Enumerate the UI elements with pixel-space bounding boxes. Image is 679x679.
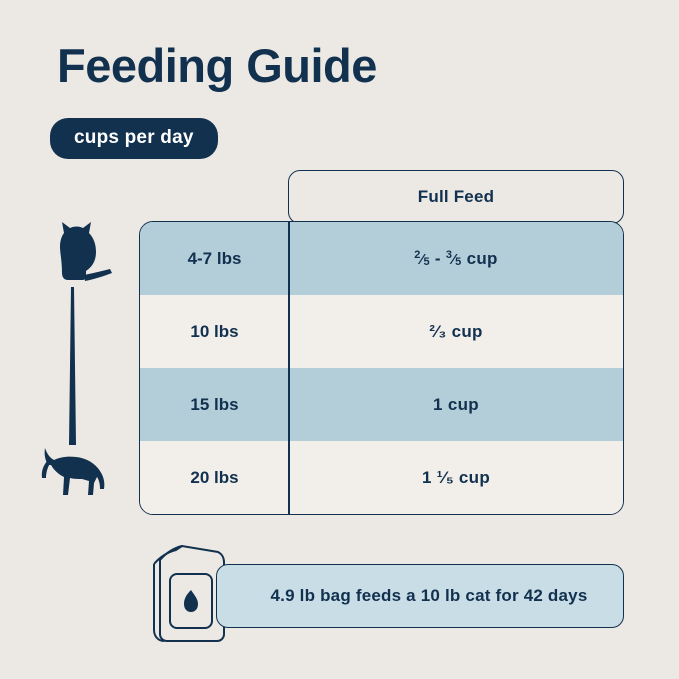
bag-feeding-note-text: 4.9 lb bag feeds a 10 lb cat for 42 days <box>253 586 588 606</box>
cell-weight: 20 lbs <box>140 441 289 514</box>
cell-amount: 2⁄5 - 3⁄5 cup <box>289 222 623 295</box>
cat-walking-icon <box>42 448 105 495</box>
cell-weight: 15 lbs <box>140 368 289 441</box>
feeding-guide-graphic: Feeding Guide cups per day Full Feed <box>0 0 679 679</box>
cell-weight: 4-7 lbs <box>140 222 289 295</box>
table-row: 15 lbs 1 cup <box>140 368 623 441</box>
bag-feeding-note: 4.9 lb bag feeds a 10 lb cat for 42 days <box>216 564 624 628</box>
subtitle-pill: cups per day <box>50 118 218 159</box>
cell-weight: 10 lbs <box>140 295 289 368</box>
column-header-label: Full Feed <box>288 170 624 224</box>
cell-amount: ²⁄₃ cup <box>289 295 623 368</box>
cell-amount: 1 ¹⁄₅ cup <box>289 441 623 514</box>
range-dash: - <box>430 249 446 269</box>
feeding-table: 4-7 lbs 2⁄5 - 3⁄5 cup 10 lbs ²⁄₃ cup 15 … <box>139 221 624 515</box>
cat-sitting-icon <box>60 222 112 281</box>
page-title: Feeding Guide <box>57 38 377 93</box>
table-row: 10 lbs ²⁄₃ cup <box>140 295 623 368</box>
table-row: 4-7 lbs 2⁄5 - 3⁄5 cup <box>140 222 623 295</box>
table-column-divider <box>288 221 290 515</box>
fraction-denominator-2: 5 <box>455 256 461 268</box>
cat-icons-group <box>38 215 128 505</box>
table-row: 20 lbs 1 ¹⁄₅ cup <box>140 441 623 514</box>
tail-line-icon <box>69 287 76 445</box>
cat-illustrations-svg <box>38 215 128 505</box>
table-rows: 4-7 lbs 2⁄5 - 3⁄5 cup 10 lbs ²⁄₃ cup 15 … <box>140 222 623 514</box>
cell-amount: 1 cup <box>289 368 623 441</box>
amount-fraction-2: 3⁄5 <box>446 249 462 269</box>
fraction-denominator: 5 <box>423 256 429 268</box>
amount-fraction: 2⁄5 <box>414 249 430 269</box>
unit-label: cup <box>462 249 498 269</box>
